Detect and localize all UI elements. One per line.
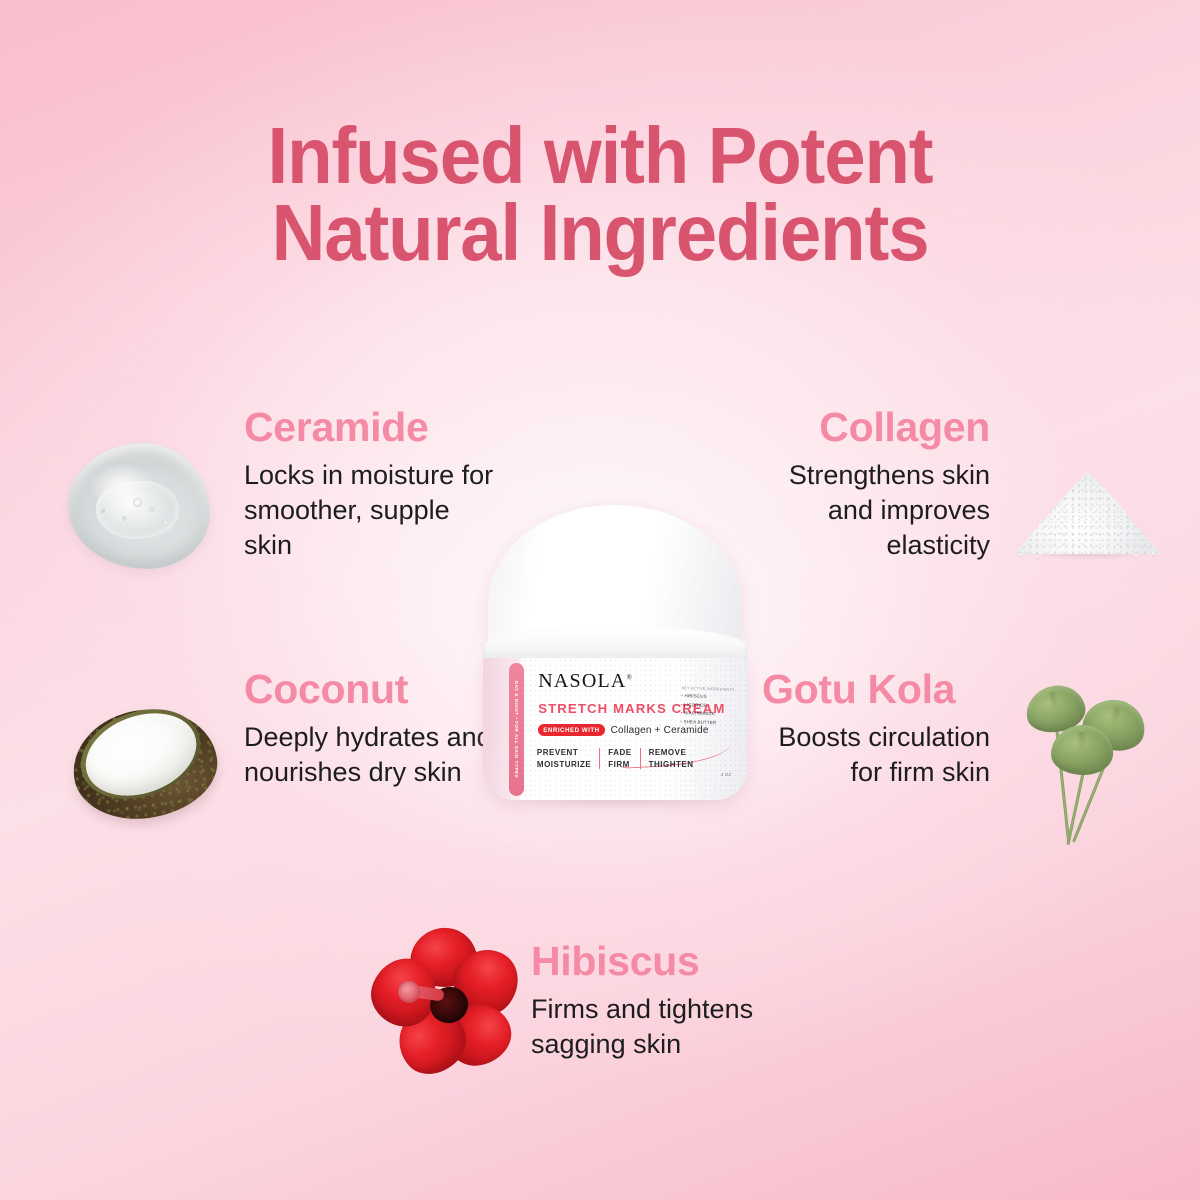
jar-ingredient-item: HIBISCUS <box>681 693 739 700</box>
ingredient-description-hibiscus: Firms and tightens sagging skin <box>531 992 831 1062</box>
jar-benefit-column: FADE FIRM <box>600 748 639 769</box>
powder-crumb <box>1152 552 1155 555</box>
jar-benefit-bottom: MOISTURIZE <box>537 760 591 769</box>
jar-ingredient-item: NIACINAMIDE <box>681 710 739 717</box>
ingredient-description-collagen: Strengthens skin and improves elasticity <box>744 458 990 563</box>
ingredient-block-hibiscus: Hibiscus Firms and tightens sagging skin <box>531 940 831 1062</box>
gel-bubble <box>149 506 155 512</box>
jar-benefit-bottom: FIRM <box>608 760 631 769</box>
ingredient-name-hibiscus: Hibiscus <box>531 940 831 983</box>
ingredient-description-ceramide: Locks in moisture for smoother, supple s… <box>244 458 494 563</box>
ingredient-block-gotu-kola: Gotu Kola Boosts circulation for firm sk… <box>762 668 990 790</box>
jar-benefits-row: PREVENT MOISTURIZE FADE FIRM REMOVE THIG… <box>537 748 702 769</box>
ingredient-block-collagen: Collagen Strengthens skin and improves e… <box>744 406 990 563</box>
gel-swatch-icon <box>68 443 210 569</box>
jar-brand-trademark: ® <box>627 673 632 681</box>
gel-swirl-highlight <box>96 481 178 539</box>
jar-side-panel-text: NATURAL INGREDIENTS <box>483 684 484 708</box>
jar-benefit-top: REMOVE <box>649 748 694 757</box>
jar-lid-highlight <box>524 518 626 610</box>
hibiscus-flower-icon <box>372 928 518 1076</box>
jar-vertical-claim: DAY & NIGHT • FOR ALL SKIN TYPES <box>508 667 527 792</box>
powder-grain-texture <box>1015 458 1161 554</box>
gel-bubble <box>162 519 169 526</box>
jar-benefit-top: PREVENT <box>537 748 591 757</box>
jar-active-ingredients: Collagen + Ceramide <box>611 725 709 736</box>
product-jar: NATURAL INGREDIENTS DAY & NIGHT • FOR AL… <box>480 505 750 800</box>
jar-brand-name: NASOLA® <box>538 670 632 693</box>
jar-benefit-top: FADE <box>608 748 631 757</box>
jar-ingredient-list-title: KEY ACTIVE INGREDIENTS <box>682 686 740 692</box>
ingredient-block-ceramide: Ceramide Locks in moisture for smoother,… <box>244 406 494 563</box>
jar-enriched-badge: ENRICHED WITH <box>538 724 604 736</box>
jar-ingredient-list: KEY ACTIVE INGREDIENTS HIBISCUS LICORICE… <box>681 686 740 726</box>
ingredient-description-coconut: Deeply hydrates and nourishes dry skin <box>244 720 494 790</box>
gel-bubble <box>122 516 127 521</box>
ingredient-name-ceramide: Ceramide <box>244 406 494 449</box>
jar-body-label: NATURAL INGREDIENTS DAY & NIGHT • FOR AL… <box>483 658 748 800</box>
jar-enriched-row: ENRICHED WITH Collagen + Ceramide <box>538 724 708 736</box>
page-title-line-1: Infused with Potent <box>42 118 1158 195</box>
jar-ingredient-item: LICORICE <box>681 701 739 708</box>
jar-benefit-column: REMOVE THIGHTEN <box>641 748 702 769</box>
ingredient-name-collagen: Collagen <box>744 406 990 449</box>
gel-bubble <box>101 509 105 513</box>
jar-benefit-bottom: THIGHTEN <box>649 760 694 769</box>
coconut-half-icon <box>70 702 220 830</box>
jar-volume-label: 4 OZ <box>721 772 732 777</box>
gotu-kola-icon <box>1014 682 1170 860</box>
ingredient-block-coconut: Coconut Deeply hydrates and nourishes dr… <box>244 668 494 790</box>
jar-benefit-column: PREVENT MOISTURIZE <box>537 748 599 769</box>
ingredient-description-gotu-kola: Boosts circulation for firm skin <box>762 720 990 790</box>
ingredient-name-coconut: Coconut <box>244 668 494 711</box>
ingredient-name-gotu-kola: Gotu Kola <box>762 668 990 711</box>
page-title: Infused with Potent Natural Ingredients <box>42 118 1158 272</box>
page-title-line-2: Natural Ingredients <box>42 195 1158 272</box>
powder-mound-icon <box>1012 448 1164 560</box>
powder-crumb <box>1134 554 1138 557</box>
